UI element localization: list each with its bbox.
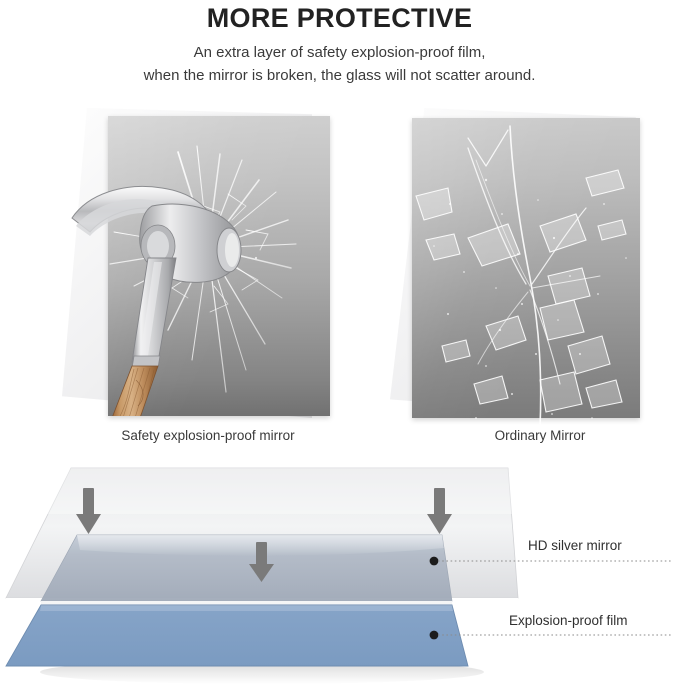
subtitle-line-1: An extra layer of safety explosion-proof… [0,41,679,64]
header: MORE PROTECTIVE An extra layer of safety… [0,0,679,87]
panel-safety-mirror [60,108,350,448]
caption-safety-mirror: Safety explosion-proof mirror [58,428,358,443]
subtitle-line-2: when the mirror is broken, the glass wil… [0,64,679,87]
callout-label-explosion-proof-film: Explosion-proof film [509,613,628,628]
subtitle: An extra layer of safety explosion-proof… [0,41,679,87]
mirror-surface-left [108,116,330,416]
panel-ordinary-mirror [390,108,679,448]
layer-diagram [0,458,679,699]
layer-explosion-proof-film [6,605,468,666]
caption-ordinary-mirror: Ordinary Mirror [390,428,679,443]
callout-explosion-proof-film [430,631,673,640]
page-title: MORE PROTECTIVE [0,2,679,34]
layer-hd-silver-mirror [41,535,452,605]
mirror-surface-right [412,118,640,418]
callout-label-hd-silver-mirror: HD silver mirror [528,538,622,553]
comparison-panels [0,108,679,448]
